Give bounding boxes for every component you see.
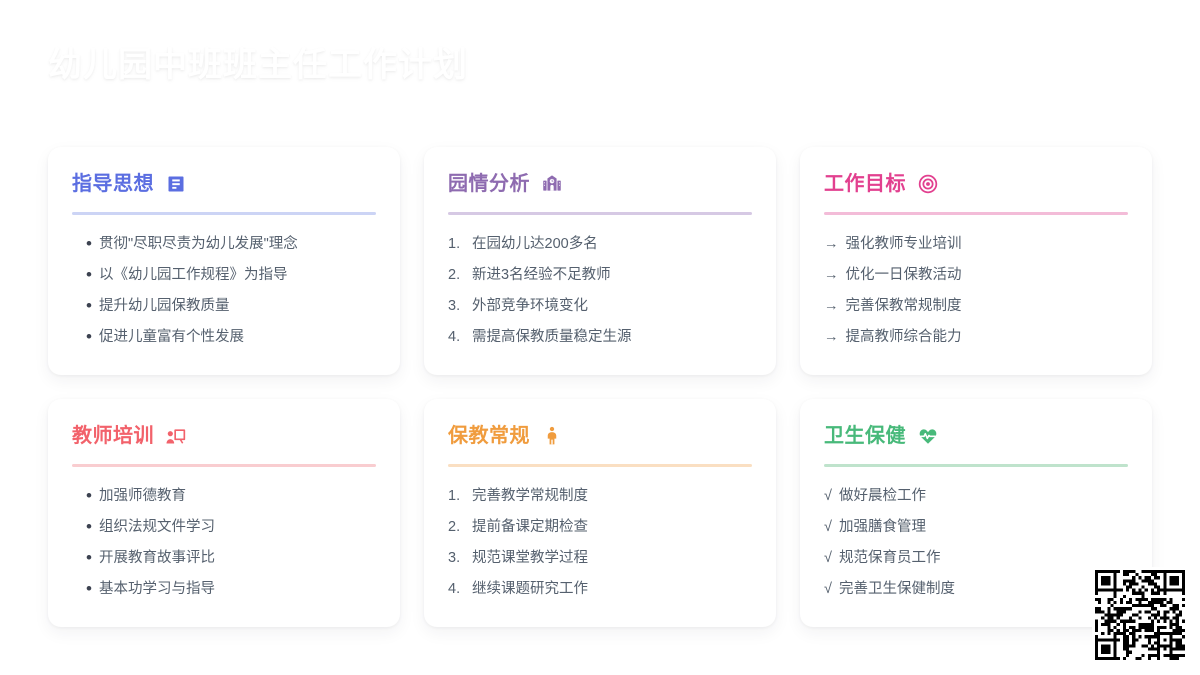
list-item-text: 促进儿童富有个性发展	[99, 327, 244, 348]
list-item-text: 加强膳食管理	[839, 517, 926, 538]
list-item: 4. 需提高保教质量稳定生源	[448, 327, 752, 348]
card-header: 工作目标	[824, 169, 1128, 199]
list-item-text: 加强师德教育	[99, 486, 186, 507]
list-item: 1. 在园幼儿达200多名	[448, 234, 752, 255]
list-item-text: 以《幼儿园工作规程》为指导	[99, 265, 288, 286]
card-divider	[448, 212, 752, 215]
list-item: → 提高教师综合能力	[824, 327, 1128, 348]
card-title: 保教常规	[448, 426, 530, 446]
child-icon	[541, 425, 563, 447]
card-teacher-training[interactable]: 教师培训 • 加强师德教育 • 组织法规文件学习 •	[48, 399, 400, 627]
list-marker: •	[72, 580, 92, 597]
card-header: 卫生保健	[824, 421, 1128, 451]
list-item-text: 在园幼儿达200多名	[472, 234, 598, 255]
list-item-text: 完善保教常规制度	[846, 296, 962, 317]
card-title: 指导思想	[72, 174, 154, 194]
list-marker: →	[824, 234, 839, 255]
list-item: √ 规范保育员工作	[824, 548, 1128, 569]
list-item-text: 提高教师综合能力	[846, 327, 962, 348]
list-marker: 2.	[448, 265, 465, 286]
list-item-text: 提前备课定期检查	[472, 517, 588, 538]
card-divider	[824, 212, 1128, 215]
list-marker: →	[824, 265, 839, 286]
list-item: 1. 完善教学常规制度	[448, 486, 752, 507]
list-marker: •	[72, 266, 92, 283]
list-item: → 完善保教常规制度	[824, 296, 1128, 317]
card-divider	[448, 464, 752, 467]
list-marker: √	[824, 486, 832, 507]
presenter-icon	[165, 425, 187, 447]
list-marker: →	[824, 327, 839, 348]
card-garden-analysis[interactable]: 园情分析 1. 在	[424, 147, 776, 375]
list-item: • 以《幼儿园工作规程》为指导	[72, 265, 376, 286]
card-divider	[72, 464, 376, 467]
list-item: • 加强师德教育	[72, 486, 376, 507]
list-marker: 3.	[448, 296, 465, 317]
list-item: 2. 新进3名经验不足教师	[448, 265, 752, 286]
card-title: 工作目标	[824, 174, 906, 194]
card-work-goals[interactable]: 工作目标 → 强化教师专业培训 → 优化一日保教活动 → 完善保教常规制度	[800, 147, 1152, 375]
list-item-text: 做好晨检工作	[839, 486, 926, 507]
card-header: 指导思想	[72, 169, 376, 199]
list-item-text: 基本功学习与指导	[99, 579, 215, 600]
card-list: → 强化教师专业培训 → 优化一日保教活动 → 完善保教常规制度 → 提高教师综…	[824, 234, 1128, 348]
list-item: 3. 规范课堂教学过程	[448, 548, 752, 569]
list-marker: •	[72, 328, 92, 345]
card-list: √ 做好晨检工作 √ 加强膳食管理 √ 规范保育员工作 √ 完善卫生保健制度	[824, 486, 1128, 600]
card-divider	[824, 464, 1128, 467]
list-item-text: 贯彻"尽职尽责为幼儿发展"理念	[99, 234, 298, 255]
list-item-text: 规范保育员工作	[839, 548, 941, 569]
card-care-routine[interactable]: 保教常规 1. 完善教学常规制度 2. 提前备课定期检查 3. 规范课堂教	[424, 399, 776, 627]
list-marker: 1.	[448, 234, 465, 255]
list-item-text: 开展教育故事评比	[99, 548, 215, 569]
card-title: 园情分析	[448, 174, 530, 194]
list-marker: →	[824, 296, 839, 317]
list-marker: √	[824, 548, 832, 569]
list-item: 3. 外部竞争环境变化	[448, 296, 752, 317]
card-list: • 贯彻"尽职尽责为幼儿发展"理念 • 以《幼儿园工作规程》为指导 • 提升幼儿…	[72, 234, 376, 348]
list-item-text: 优化一日保教活动	[846, 265, 962, 286]
list-item: √ 完善卫生保健制度	[824, 579, 1128, 600]
list-item-text: 强化教师专业培训	[846, 234, 962, 255]
card-title: 教师培训	[72, 426, 154, 446]
list-marker: √	[824, 579, 832, 600]
list-item-text: 外部竞争环境变化	[472, 296, 588, 317]
list-marker: 2.	[448, 517, 465, 538]
list-item: 4. 继续课题研究工作	[448, 579, 752, 600]
list-item: • 提升幼儿园保教质量	[72, 296, 376, 317]
card-header: 保教常规	[448, 421, 752, 451]
page-title: 幼儿园中班班主任工作计划	[48, 44, 468, 87]
card-grid: 指导思想 • 贯彻"尽职尽责为幼儿发展"理念 • 以《幼儿园工作规程》为指导	[48, 147, 1152, 627]
list-marker: •	[72, 518, 92, 535]
card-list: 1. 完善教学常规制度 2. 提前备课定期检查 3. 规范课堂教学过程 4. 继…	[448, 486, 752, 600]
list-marker: 1.	[448, 486, 465, 507]
list-item: √ 做好晨检工作	[824, 486, 1128, 507]
list-marker: 4.	[448, 579, 465, 600]
card-guiding-thought[interactable]: 指导思想 • 贯彻"尽职尽责为幼儿发展"理念 • 以《幼儿园工作规程》为指导	[48, 147, 400, 375]
list-item: • 开展教育故事评比	[72, 548, 376, 569]
book-icon	[165, 173, 187, 195]
list-item-text: 需提高保教质量稳定生源	[472, 327, 632, 348]
list-marker: √	[824, 517, 832, 538]
list-marker: 3.	[448, 548, 465, 569]
card-title: 卫生保健	[824, 426, 906, 446]
card-header: 园情分析	[448, 169, 752, 199]
list-marker: •	[72, 549, 92, 566]
list-item: • 贯彻"尽职尽责为幼儿发展"理念	[72, 234, 376, 255]
list-item-text: 完善卫生保健制度	[839, 579, 955, 600]
list-item-text: 继续课题研究工作	[472, 579, 588, 600]
list-item-text: 组织法规文件学习	[99, 517, 215, 538]
school-building-icon	[541, 173, 563, 195]
list-marker: •	[72, 235, 92, 252]
list-marker: •	[72, 297, 92, 314]
list-item: 2. 提前备课定期检查	[448, 517, 752, 538]
list-marker: 4.	[448, 327, 465, 348]
list-item: • 基本功学习与指导	[72, 579, 376, 600]
list-item: • 组织法规文件学习	[72, 517, 376, 538]
list-marker: •	[72, 487, 92, 504]
list-item-text: 提升幼儿园保教质量	[99, 296, 230, 317]
card-list: • 加强师德教育 • 组织法规文件学习 • 开展教育故事评比 • 基本功学习与指…	[72, 486, 376, 600]
card-list: 1. 在园幼儿达200多名 2. 新进3名经验不足教师 3. 外部竞争环境变化 …	[448, 234, 752, 348]
list-item-text: 规范课堂教学过程	[472, 548, 588, 569]
card-divider	[72, 212, 376, 215]
list-item: • 促进儿童富有个性发展	[72, 327, 376, 348]
list-item: → 优化一日保教活动	[824, 265, 1128, 286]
list-item: → 强化教师专业培训	[824, 234, 1128, 255]
list-item: √ 加强膳食管理	[824, 517, 1128, 538]
target-icon	[917, 173, 939, 195]
qr-code[interactable]	[1092, 567, 1188, 663]
list-item-text: 新进3名经验不足教师	[472, 265, 611, 286]
card-header: 教师培训	[72, 421, 376, 451]
heart-pulse-icon	[917, 425, 939, 447]
list-item-text: 完善教学常规制度	[472, 486, 588, 507]
